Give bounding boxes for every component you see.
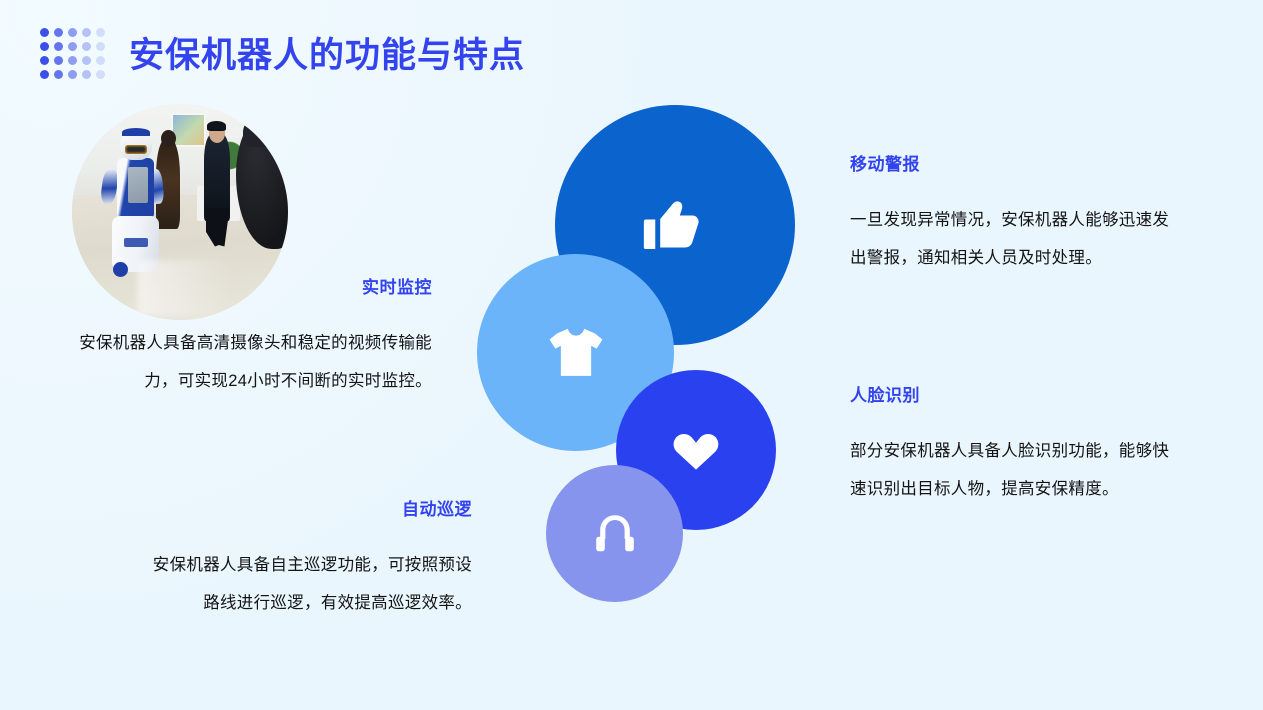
photo-person-foreground-hat (243, 117, 278, 147)
headphones-icon (591, 510, 639, 558)
photo-person-guard-cap (207, 121, 226, 131)
feature-block-mobile-alarm: 移动警报 一旦发现异常情况，安保机器人能够迅速发出警报，通知相关人员及时处理。 (850, 155, 1182, 277)
feature-block-face-recognition: 人脸识别 部分安保机器人具备人脸识别功能，能够快速识别出目标人物，提高安保精度。 (850, 386, 1182, 508)
bubble-headphones[interactable] (546, 465, 683, 602)
feature-body: 一旦发现异常情况，安保机器人能够迅速发出警报，通知相关人员及时处理。 (850, 201, 1182, 277)
thumbs-up-icon (638, 188, 712, 262)
feature-body: 安保机器人具备自主巡逻功能，可按照预设路线进行巡逻，有效提高巡逻效率。 (140, 546, 472, 622)
slide-canvas: 安保机器人的功能与特点 (0, 0, 1263, 710)
photo-robot-head-cap (122, 128, 150, 137)
photo-robot-screen (128, 167, 147, 204)
feature-heading: 人脸识别 (850, 386, 1182, 406)
feature-body: 部分安保机器人具备人脸识别功能，能够快速识别出目标人物，提高安保精度。 (850, 432, 1182, 508)
feature-heading: 实时监控 (60, 278, 432, 298)
heart-icon (668, 422, 724, 478)
feature-block-auto-patrol: 自动巡逻 安保机器人具备自主巡逻功能，可按照预设路线进行巡逻，有效提高巡逻效率。 (140, 500, 472, 622)
photo-robot-badge (124, 238, 148, 247)
tshirt-icon (543, 320, 609, 386)
slide-header: 安保机器人的功能与特点 (40, 22, 525, 88)
photo-person-woman-head (161, 130, 176, 147)
photo-person-guard (204, 134, 230, 220)
photo-robot-face-display (125, 145, 147, 154)
photo-robot-wheel (113, 262, 128, 277)
page-title: 安保机器人的功能与特点 (129, 38, 525, 73)
feature-block-real-time-monitoring: 实时监控 安保机器人具备高清摄像头和稳定的视频传输能力，可实现24小时不间断的实… (60, 278, 432, 400)
icon-bubble-cluster (470, 95, 830, 655)
dot-grid-icon (40, 28, 107, 82)
feature-heading: 移动警报 (850, 155, 1182, 175)
feature-body: 安保机器人具备高清摄像头和稳定的视频传输能力，可实现24小时不间断的实时监控。 (60, 324, 432, 400)
photo-wall-poster (171, 113, 206, 148)
feature-heading: 自动巡逻 (140, 500, 472, 520)
